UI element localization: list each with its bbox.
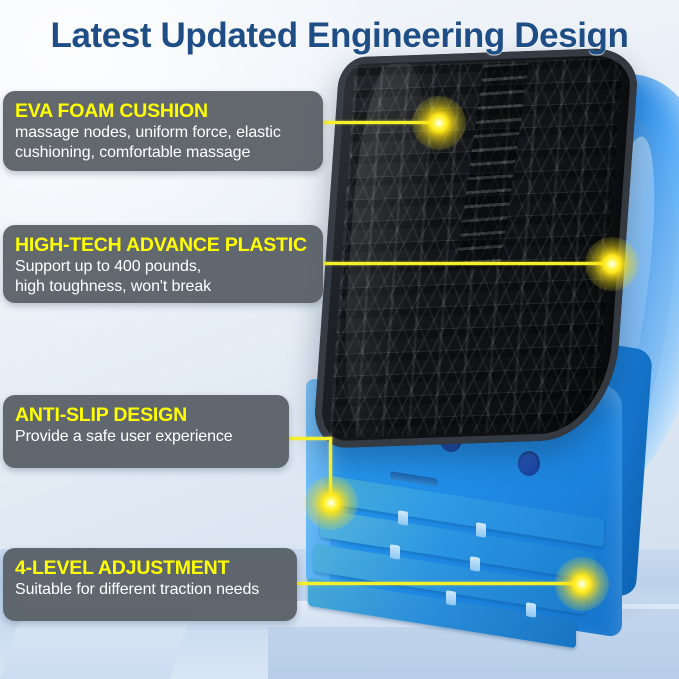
product-image	[300, 45, 679, 645]
callout-anti-slip-design: ANTI-SLIP DESIGN Provide a safe user exp…	[3, 395, 289, 468]
callout-high-tech-advance-plastic: HIGH-TECH ADVANCE PLASTIC Support up to …	[3, 225, 323, 303]
step-notch	[446, 590, 456, 606]
page-title: Latest Updated Engineering Design	[0, 16, 679, 56]
step-notch	[470, 556, 480, 572]
step-notch	[526, 602, 536, 618]
marker-dot-anti-slip-design	[304, 476, 358, 530]
callout-description-eva-foam-cushion: massage nodes, uniform force, elastic cu…	[15, 123, 311, 163]
callout-description-high-tech-advance-plastic: Support up to 400 pounds, high toughness…	[15, 257, 311, 297]
step-notch	[390, 544, 400, 560]
callout-eva-foam-cushion: EVA FOAM CUSHION massage nodes, uniform …	[3, 91, 323, 171]
marker-dot-high-tech-advance-plastic	[585, 237, 639, 291]
step-notch	[398, 510, 408, 526]
callout-description-anti-slip-design: Provide a safe user experience	[15, 427, 277, 447]
marker-dot-eva-foam-cushion	[412, 96, 466, 150]
connector-line-high-tech-advance-plastic	[320, 262, 612, 265]
callout-title-4-level-adjustment: 4-LEVEL ADJUSTMENT	[15, 556, 285, 580]
callout-title-eva-foam-cushion: EVA FOAM CUSHION	[15, 99, 311, 123]
callout-description-4-level-adjustment: Suitable for different traction needs	[15, 580, 285, 600]
connector-line-anti-slip-design-horizontal	[286, 437, 332, 440]
infographic-canvas: Latest Updated Engineering Design EVA FO…	[0, 0, 679, 679]
adjustment-hole-3	[518, 451, 540, 476]
marker-dot-4-level-adjustment	[555, 557, 609, 611]
connector-line-4-level-adjustment	[292, 582, 582, 585]
callout-title-high-tech-advance-plastic: HIGH-TECH ADVANCE PLASTIC	[15, 233, 311, 257]
callout-4-level-adjustment: 4-LEVEL ADJUSTMENT Suitable for differen…	[3, 548, 297, 621]
step-notch	[476, 522, 486, 538]
callout-title-anti-slip-design: ANTI-SLIP DESIGN	[15, 403, 277, 427]
